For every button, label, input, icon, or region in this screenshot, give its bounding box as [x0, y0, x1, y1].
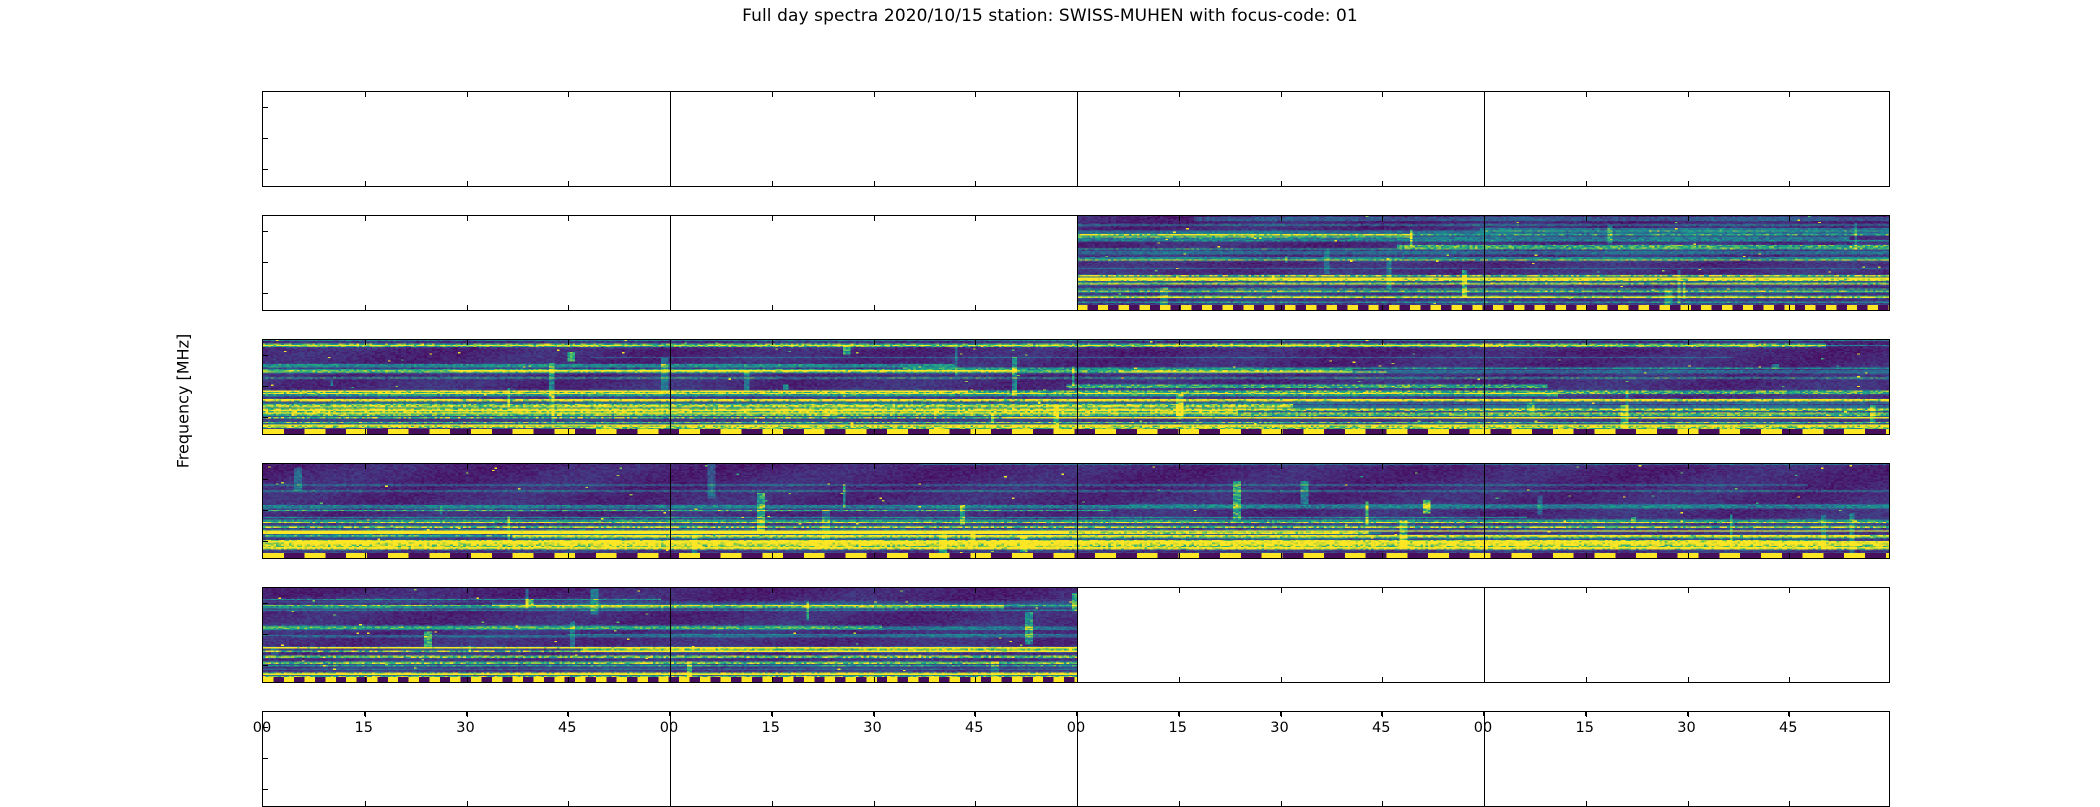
x-minor-tick-bottom [772, 181, 773, 186]
x-tick-mark [873, 711, 874, 716]
x-minor-tick-bottom [467, 553, 468, 558]
x-minor-tick-bottom [1179, 801, 1180, 806]
x-tick-label: 15 [1576, 720, 1594, 736]
x-minor-tick-bottom [1281, 429, 1282, 434]
x-minor-tick-top [1281, 464, 1282, 469]
x-minor-tick-top [365, 588, 366, 593]
x-minor-tick-top [1586, 92, 1587, 97]
y-tick-mark-inner [263, 634, 268, 635]
x-minor-tick-top [365, 464, 366, 469]
x-minor-tick-top [1789, 216, 1790, 221]
hour-separator-1 [670, 92, 671, 186]
x-minor-tick-bottom [467, 801, 468, 806]
x-tick-mark [567, 711, 568, 716]
x-minor-tick-bottom [365, 181, 366, 186]
x-tick-label: 00 [660, 720, 678, 736]
x-minor-tick-bottom [1789, 801, 1790, 806]
x-minor-tick-bottom [1382, 801, 1383, 806]
x-minor-tick-bottom [1688, 429, 1689, 434]
x-minor-tick-top [772, 464, 773, 469]
x-minor-tick-bottom [772, 677, 773, 682]
x-minor-tick-top [1688, 92, 1689, 97]
x-minor-tick-top [1586, 588, 1587, 593]
x-minor-tick-bottom [1382, 305, 1383, 310]
x-minor-tick-top [1179, 92, 1180, 97]
x-minor-tick-top [365, 216, 366, 221]
y-tick-mark-inner [263, 758, 268, 759]
x-minor-tick-bottom [1688, 677, 1689, 682]
x-minor-tick-bottom [1789, 429, 1790, 434]
x-minor-tick-top [975, 464, 976, 469]
x-tick-mark [1381, 711, 1382, 716]
x-minor-tick-top [568, 216, 569, 221]
x-minor-tick-bottom [1789, 677, 1790, 682]
x-minor-tick-bottom [467, 181, 468, 186]
spectrogram-row-04-07ut[interactable]: 25507504-07UT [262, 215, 1890, 311]
hour-separator-1 [670, 464, 671, 558]
x-minor-tick-top [365, 340, 366, 345]
x-minor-tick-bottom [1281, 181, 1282, 186]
x-minor-tick-bottom [975, 677, 976, 682]
x-minor-tick-bottom [568, 677, 569, 682]
x-minor-tick-bottom [467, 677, 468, 682]
x-minor-tick-top [1281, 92, 1282, 97]
x-minor-tick-top [1688, 588, 1689, 593]
hour-separator-2 [1077, 92, 1078, 186]
y-tick-mark-inner [263, 603, 268, 604]
x-minor-tick-top [467, 216, 468, 221]
x-minor-tick-bottom [1382, 429, 1383, 434]
hour-separator-2 [1077, 216, 1078, 310]
x-tick-label: 30 [863, 720, 881, 736]
x-tick-label: 30 [1677, 720, 1695, 736]
spectrogram-row-08-11ut[interactable]: 25507508-11UT [262, 339, 1890, 435]
x-minor-tick-bottom [874, 429, 875, 434]
x-minor-tick-bottom [1179, 429, 1180, 434]
x-minor-tick-bottom [1586, 305, 1587, 310]
x-minor-tick-bottom [874, 181, 875, 186]
x-tick-mark [1687, 711, 1688, 716]
spectrogram-row-12-15ut[interactable]: 25507512-15UT [262, 463, 1890, 559]
x-minor-tick-top [568, 92, 569, 97]
y-tick-mark-inner [263, 231, 268, 232]
y-tick-mark-inner [263, 293, 268, 294]
y-tick-mark-inner [263, 355, 268, 356]
hour-separator-1 [670, 340, 671, 434]
x-minor-tick-bottom [1586, 677, 1587, 682]
hour-separator-3 [1484, 216, 1485, 310]
x-minor-tick-bottom [772, 801, 773, 806]
x-tick-label: 00 [253, 720, 271, 736]
x-minor-tick-top [1586, 216, 1587, 221]
x-minor-tick-top [568, 588, 569, 593]
x-minor-tick-top [975, 588, 976, 593]
hour-separator-1 [670, 588, 671, 682]
x-axis: 00153045001530450015304500153045 [262, 711, 1890, 751]
x-minor-tick-bottom [975, 429, 976, 434]
y-tick-mark-inner [263, 107, 268, 108]
x-minor-tick-bottom [1789, 305, 1790, 310]
x-minor-tick-top [975, 92, 976, 97]
x-minor-tick-top [1281, 588, 1282, 593]
x-minor-tick-bottom [1586, 429, 1587, 434]
x-minor-tick-top [1179, 340, 1180, 345]
x-tick-label: 30 [1270, 720, 1288, 736]
x-minor-tick-bottom [874, 553, 875, 558]
x-minor-tick-bottom [1281, 553, 1282, 558]
x-tick-mark [1585, 711, 1586, 716]
y-tick-mark-inner [263, 541, 268, 542]
x-minor-tick-top [1688, 340, 1689, 345]
x-minor-tick-top [772, 588, 773, 593]
x-minor-tick-bottom [772, 553, 773, 558]
x-minor-tick-bottom [1179, 181, 1180, 186]
x-tick-label: 00 [1474, 720, 1492, 736]
x-minor-tick-top [1179, 588, 1180, 593]
x-minor-tick-top [467, 588, 468, 593]
x-minor-tick-top [874, 216, 875, 221]
x-tick-mark [466, 711, 467, 716]
x-minor-tick-bottom [1281, 305, 1282, 310]
x-minor-tick-top [1789, 92, 1790, 97]
x-minor-tick-bottom [975, 801, 976, 806]
x-minor-tick-bottom [568, 429, 569, 434]
x-minor-tick-top [467, 464, 468, 469]
x-minor-tick-top [1789, 340, 1790, 345]
x-minor-tick-bottom [1382, 181, 1383, 186]
hour-separator-3 [1484, 464, 1485, 558]
x-minor-tick-top [1179, 216, 1180, 221]
x-minor-tick-top [467, 340, 468, 345]
x-minor-tick-bottom [975, 553, 976, 558]
x-minor-tick-top [1586, 340, 1587, 345]
x-minor-tick-bottom [1688, 305, 1689, 310]
x-minor-tick-bottom [772, 305, 773, 310]
x-minor-tick-bottom [1179, 677, 1180, 682]
x-minor-tick-top [1382, 588, 1383, 593]
spectrogram-panel-grid: 25507500-03UT25507504-07UT25507508-11UT2… [262, 91, 1890, 711]
y-tick-mark-inner [263, 417, 268, 418]
x-minor-tick-top [772, 216, 773, 221]
x-minor-tick-bottom [1688, 181, 1689, 186]
x-minor-tick-bottom [365, 305, 366, 310]
x-minor-tick-top [874, 92, 875, 97]
x-tick-mark [669, 711, 670, 716]
x-minor-tick-bottom [365, 553, 366, 558]
x-minor-tick-top [1789, 464, 1790, 469]
x-minor-tick-bottom [874, 677, 875, 682]
hour-separator-2 [1077, 340, 1078, 434]
x-tick-mark [364, 711, 365, 716]
x-minor-tick-top [1382, 340, 1383, 345]
x-tick-mark [1483, 711, 1484, 716]
x-tick-label: 15 [1169, 720, 1187, 736]
x-tick-label: 30 [456, 720, 474, 736]
x-minor-tick-bottom [467, 429, 468, 434]
x-minor-tick-top [874, 588, 875, 593]
x-minor-tick-top [975, 340, 976, 345]
x-minor-tick-top [1281, 340, 1282, 345]
x-minor-tick-bottom [1281, 801, 1282, 806]
x-minor-tick-top [568, 340, 569, 345]
x-tick-label: 15 [355, 720, 373, 736]
x-minor-tick-bottom [568, 801, 569, 806]
x-minor-tick-top [365, 92, 366, 97]
x-tick-label: 45 [1372, 720, 1390, 736]
x-minor-tick-bottom [1179, 305, 1180, 310]
spectrogram-row-00-03ut[interactable]: 25507500-03UT [262, 91, 1890, 187]
x-minor-tick-top [1382, 464, 1383, 469]
x-minor-tick-bottom [1789, 553, 1790, 558]
hour-separator-2 [1077, 588, 1078, 682]
x-minor-tick-bottom [1586, 801, 1587, 806]
x-minor-tick-bottom [874, 305, 875, 310]
x-tick-label: 45 [1779, 720, 1797, 736]
page-title: Full day spectra 2020/10/15 station: SWI… [0, 6, 2100, 26]
x-minor-tick-top [874, 340, 875, 345]
x-minor-tick-bottom [365, 429, 366, 434]
x-minor-tick-bottom [874, 801, 875, 806]
y-tick-mark-inner [263, 510, 268, 511]
x-minor-tick-top [467, 92, 468, 97]
hour-separator-1 [670, 216, 671, 310]
x-minor-tick-bottom [365, 677, 366, 682]
x-minor-tick-top [975, 216, 976, 221]
hour-separator-3 [1484, 340, 1485, 434]
hour-separator-2 [1077, 464, 1078, 558]
x-minor-tick-bottom [1382, 677, 1383, 682]
hour-separator-3 [1484, 588, 1485, 682]
x-minor-tick-bottom [1688, 801, 1689, 806]
x-minor-tick-top [1586, 464, 1587, 469]
hour-separator-3 [1484, 92, 1485, 186]
y-tick-mark-inner [263, 479, 268, 480]
y-tick-mark-inner [263, 665, 268, 666]
x-minor-tick-top [1179, 464, 1180, 469]
x-minor-tick-bottom [568, 553, 569, 558]
x-minor-tick-bottom [975, 181, 976, 186]
y-tick-mark-inner [263, 262, 268, 263]
x-tick-label: 45 [558, 720, 576, 736]
x-minor-tick-bottom [1688, 553, 1689, 558]
x-minor-tick-bottom [568, 305, 569, 310]
x-minor-tick-top [1688, 464, 1689, 469]
x-minor-tick-top [1789, 588, 1790, 593]
x-minor-tick-top [772, 340, 773, 345]
x-tick-mark [1178, 711, 1179, 716]
y-tick-mark-inner [263, 789, 268, 790]
x-minor-tick-bottom [1789, 181, 1790, 186]
x-minor-tick-bottom [1586, 553, 1587, 558]
x-tick-mark [771, 711, 772, 716]
x-minor-tick-bottom [1382, 553, 1383, 558]
spectrogram-row-16-19ut[interactable]: 25507516-19UT [262, 587, 1890, 683]
x-tick-mark [974, 711, 975, 716]
x-minor-tick-top [874, 464, 875, 469]
x-minor-tick-top [1281, 216, 1282, 221]
x-tick-mark [262, 711, 263, 716]
x-minor-tick-top [568, 464, 569, 469]
x-tick-label: 00 [1067, 720, 1085, 736]
x-minor-tick-bottom [1586, 181, 1587, 186]
x-minor-tick-bottom [568, 181, 569, 186]
x-tick-mark [1280, 711, 1281, 716]
x-minor-tick-bottom [365, 801, 366, 806]
y-tick-mark-inner [263, 138, 268, 139]
y-tick-mark-inner [263, 169, 268, 170]
x-tick-mark [1788, 711, 1789, 716]
y-tick-mark-inner [263, 386, 268, 387]
x-minor-tick-bottom [772, 429, 773, 434]
x-minor-tick-bottom [1281, 677, 1282, 682]
y-axis-title: Frequency [MHz] [174, 334, 193, 468]
x-tick-mark [1076, 711, 1077, 716]
x-minor-tick-bottom [467, 305, 468, 310]
x-minor-tick-top [1382, 92, 1383, 97]
x-minor-tick-top [1688, 216, 1689, 221]
x-minor-tick-bottom [975, 305, 976, 310]
x-minor-tick-bottom [1179, 553, 1180, 558]
x-tick-label: 45 [965, 720, 983, 736]
x-minor-tick-top [772, 92, 773, 97]
x-tick-label: 15 [762, 720, 780, 736]
x-minor-tick-top [1382, 216, 1383, 221]
